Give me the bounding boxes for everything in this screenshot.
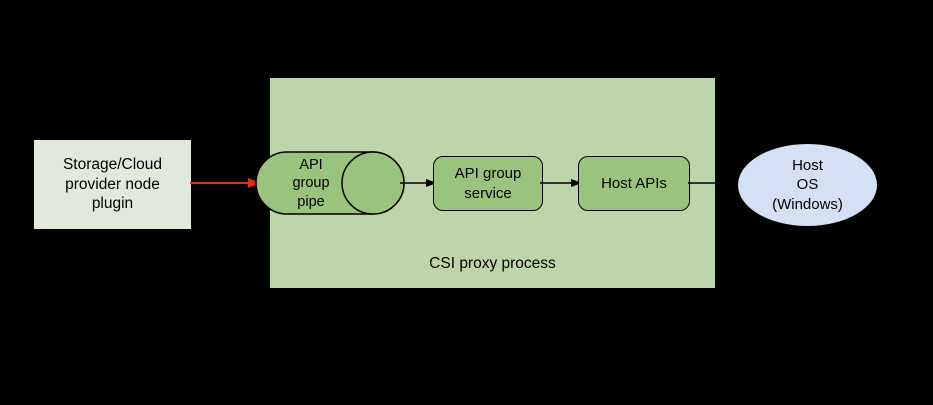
edge-storage-to-pipe-arrow (190, 171, 262, 195)
node-api-group-service: API group service (433, 156, 543, 211)
edge-service-to-host-apis-arrow (540, 173, 583, 193)
node-host-apis: Host APIs (578, 156, 690, 211)
edge-host-apis-to-host-os-line (688, 173, 718, 193)
diagram-canvas: Storage/Cloud provider node plugin CSI p… (0, 0, 933, 405)
node-api-group-pipe (254, 150, 406, 218)
container-label-csi-proxy-process: CSI proxy process (270, 255, 715, 273)
node-host-os: Host OS (Windows) (737, 143, 878, 227)
node-storage-cloud-provider-plugin: Storage/Cloud provider node plugin (33, 139, 192, 230)
